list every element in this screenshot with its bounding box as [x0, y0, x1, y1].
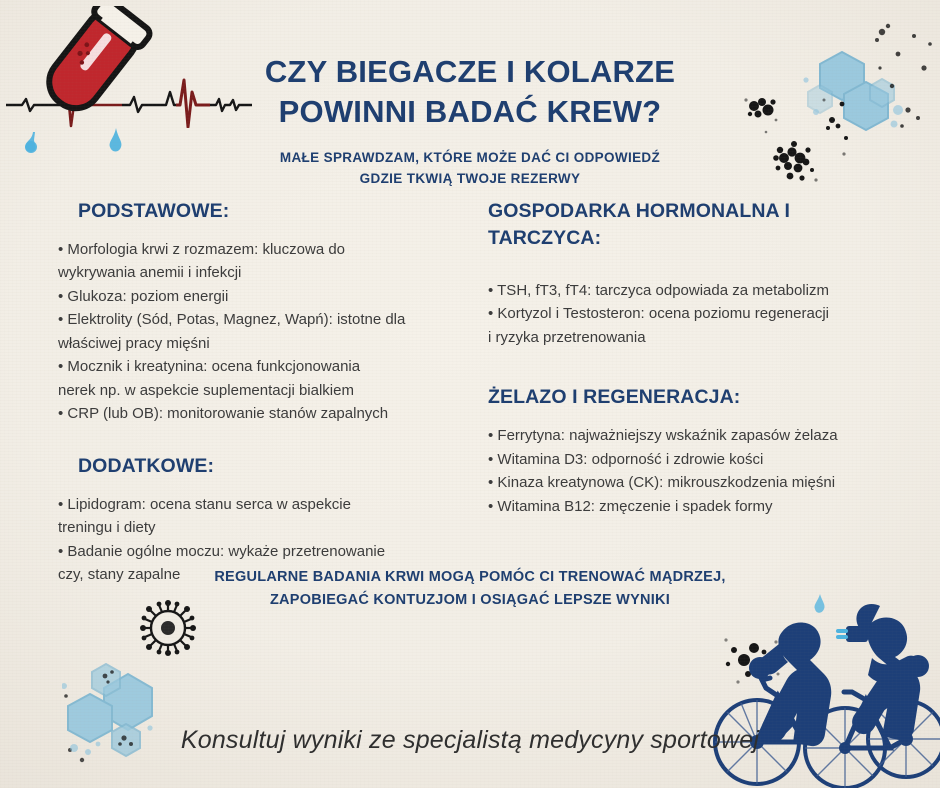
- list-item: • Witamina D3: odporność i zdrowie kości: [488, 449, 900, 472]
- spacer: [488, 266, 900, 280]
- spacer: [58, 427, 458, 453]
- right-column: GOSPODARKA HORMONALNA I TARCZYCA: • TSH,…: [488, 198, 900, 519]
- two-cyclists-silhouette-icon: [700, 596, 940, 788]
- list-item: treningu i diety: [58, 517, 458, 540]
- list-item: i ryzyka przetrenowania: [488, 327, 900, 350]
- list-item: • CRP (lub OB): monitorowanie stanów zap…: [58, 403, 458, 426]
- list-item: nerek np. w aspekcie suplementacji bialk…: [58, 380, 458, 403]
- title-line-2: POWINNI BADAĆ KREW?: [0, 92, 940, 132]
- list-item: • Lipidogram: ocena stanu serca w aspekc…: [58, 494, 458, 517]
- section-heading-podstawowe: PODSTAWOWE:: [58, 198, 458, 225]
- section-heading-line-1: GOSPODARKA HORMONALNA I: [488, 198, 900, 225]
- infographic-poster: CZY BIEGACZE I KOLARZE POWINNI BADAĆ KRE…: [0, 0, 940, 788]
- list-item: • Ferrytyna: najważniejszy wskaźnik zapa…: [488, 425, 900, 448]
- list-item: • Elektrolity (Sód, Potas, Magnez, Wapń)…: [58, 309, 458, 332]
- list-item: właściwej pracy mięśni: [58, 333, 458, 356]
- section-list-hormonalna: • TSH, fT3, fT4: tarczyca odpowiada za m…: [488, 280, 900, 350]
- section-heading-dodatkowe: DODATKOWE:: [58, 453, 458, 480]
- list-item: • TSH, fT3, fT4: tarczyca odpowiada za m…: [488, 280, 900, 303]
- left-column: PODSTAWOWE: • Morfologia krwi z rozmazem…: [58, 198, 458, 588]
- section-heading-hormonalna: GOSPODARKA HORMONALNA I TARCZYCA:: [488, 198, 900, 252]
- list-item: • Kortyzol i Testosteron: ocena poziomu …: [488, 303, 900, 326]
- spacer: [488, 350, 900, 384]
- list-item: • Glukoza: poziom energii: [58, 286, 458, 309]
- list-item: • Mocznik i kreatynina: ocena funkcjonow…: [58, 356, 458, 379]
- footer-statement: REGULARNE BADANIA KRWI MOGĄ POMÓC CI TRE…: [0, 566, 940, 613]
- poster-title: CZY BIEGACZE I KOLARZE POWINNI BADAĆ KRE…: [0, 52, 940, 133]
- section-heading-line-2: TARCZYCA:: [488, 225, 900, 252]
- footer-line-1: REGULARNE BADANIA KRWI MOGĄ POMÓC CI TRE…: [0, 566, 940, 589]
- list-item: wykrywania anemii i infekcji: [58, 262, 458, 285]
- footer-line-2: ZAPOBIEGAĆ KONTUZJOM I OSIĄGAĆ LEPSZE WY…: [0, 589, 940, 612]
- speckle-cluster-icon: [720, 630, 790, 690]
- section-list-podstawowe: • Morfologia krwi z rozmazem: kluczowa d…: [58, 239, 458, 426]
- list-item: • Badanie ogólne moczu: wykaże przetreno…: [58, 541, 458, 564]
- subtitle-line-2: GDZIE TKWIĄ TWOJE REZERWY: [0, 169, 940, 190]
- section-heading-zelazo: ŻELAZO I REGENERACJA:: [488, 384, 900, 411]
- poster-subtitle: MAŁE SPRAWDZAM, KTÓRE MOŻE DAĆ CI ODPOWI…: [0, 148, 940, 190]
- title-line-1: CZY BIEGACZE I KOLARZE: [0, 52, 940, 92]
- list-item: • Kinaza kreatynowa (CK): mikrouszkodzen…: [488, 472, 900, 495]
- list-item: • Witamina B12: zmęczenie i spadek formy: [488, 496, 900, 519]
- tagline: Konsultuj wyniki ze specjalistą medycyny…: [0, 726, 940, 755]
- subtitle-line-1: MAŁE SPRAWDZAM, KTÓRE MOŻE DAĆ CI ODPOWI…: [0, 148, 940, 169]
- section-list-zelazo: • Ferrytyna: najważniejszy wskaźnik zapa…: [488, 425, 900, 518]
- list-item: • Morfologia krwi z rozmazem: kluczowa d…: [58, 239, 458, 262]
